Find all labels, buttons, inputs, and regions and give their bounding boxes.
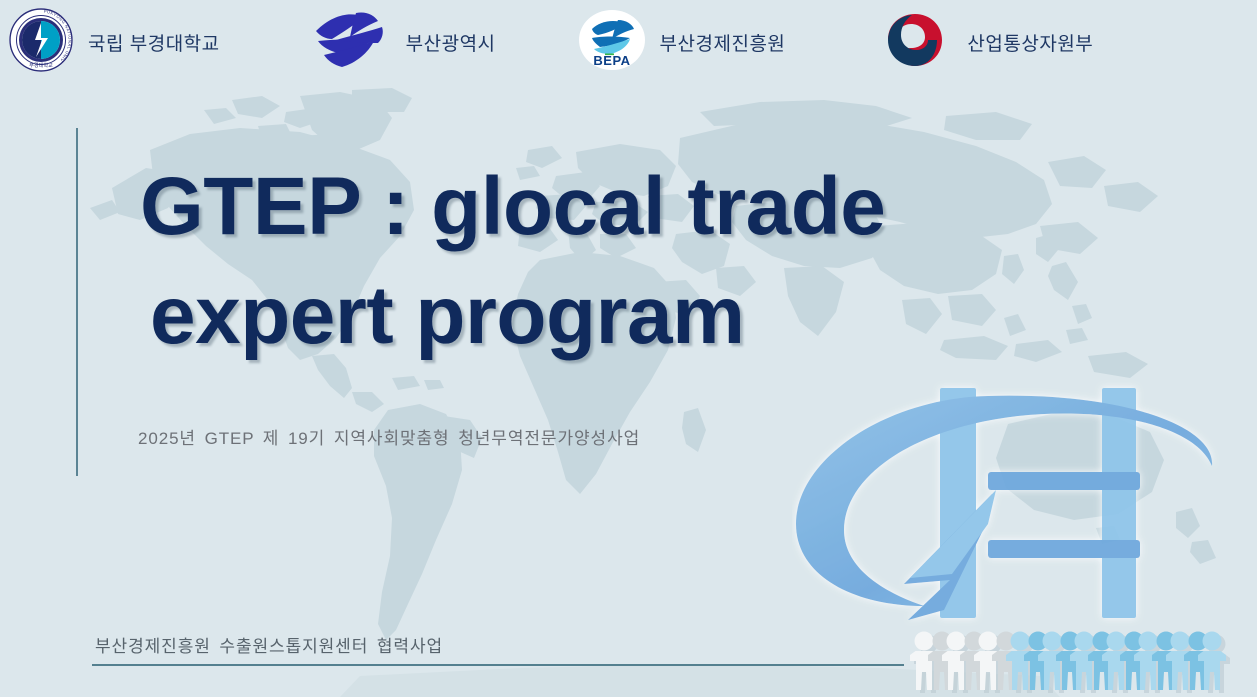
bepa-logo-icon: BEPA (578, 9, 646, 76)
logo-label-motie: 산업통상자원부 (967, 29, 1093, 56)
svg-text:부경대학교: 부경대학교 (29, 61, 53, 69)
logo-label-bepa: 부산경제진흥원 (660, 29, 786, 56)
logo-motie: 산업통상자원부 (885, 0, 1093, 84)
logo-pukyong-national-university: PUKYONG NATIONAL UNIV 부경대학교 국립 부경대학교 (8, 0, 220, 84)
svg-text:BEPA: BEPA (593, 53, 630, 68)
logo-label-pknu: 국립 부경대학교 (88, 29, 220, 56)
busan-metropolitan-city-logo-icon (312, 9, 394, 76)
logo-busan-metropolitan-city: 부산광역시 (312, 0, 496, 84)
footer-divider (92, 664, 904, 666)
subtitle: 2025년 GTEP 제 19기 지역사회맞춤형 청년무역전문가양성사업 (138, 424, 640, 449)
partner-logo-row: PUKYONG NATIONAL UNIV 부경대학교 국립 부경대학교 부산광… (0, 0, 1257, 84)
page-title: GTEP : glocal trade expert program (140, 152, 1080, 370)
paper-doll-people-chain-icon (908, 628, 1244, 697)
logo-bepa: BEPA 부산경제진흥원 (578, 0, 786, 84)
logo-label-busan: 부산광역시 (406, 29, 496, 56)
title-accent-rule (76, 128, 78, 476)
motie-taegeuk-logo-icon (885, 11, 945, 74)
title-line-2: expert program (150, 261, 1080, 370)
gtep-emblem-watermark-icon (792, 372, 1222, 637)
footer-note: 부산경제진흥원 수출원스톱지원센터 협력사업 (95, 632, 443, 657)
title-line-1: GTEP : glocal trade (140, 152, 1080, 261)
presentation-slide: PUKYONG NATIONAL UNIV 부경대학교 국립 부경대학교 부산광… (0, 0, 1257, 697)
pukyong-national-university-seal-icon: PUKYONG NATIONAL UNIV 부경대학교 (8, 7, 74, 78)
